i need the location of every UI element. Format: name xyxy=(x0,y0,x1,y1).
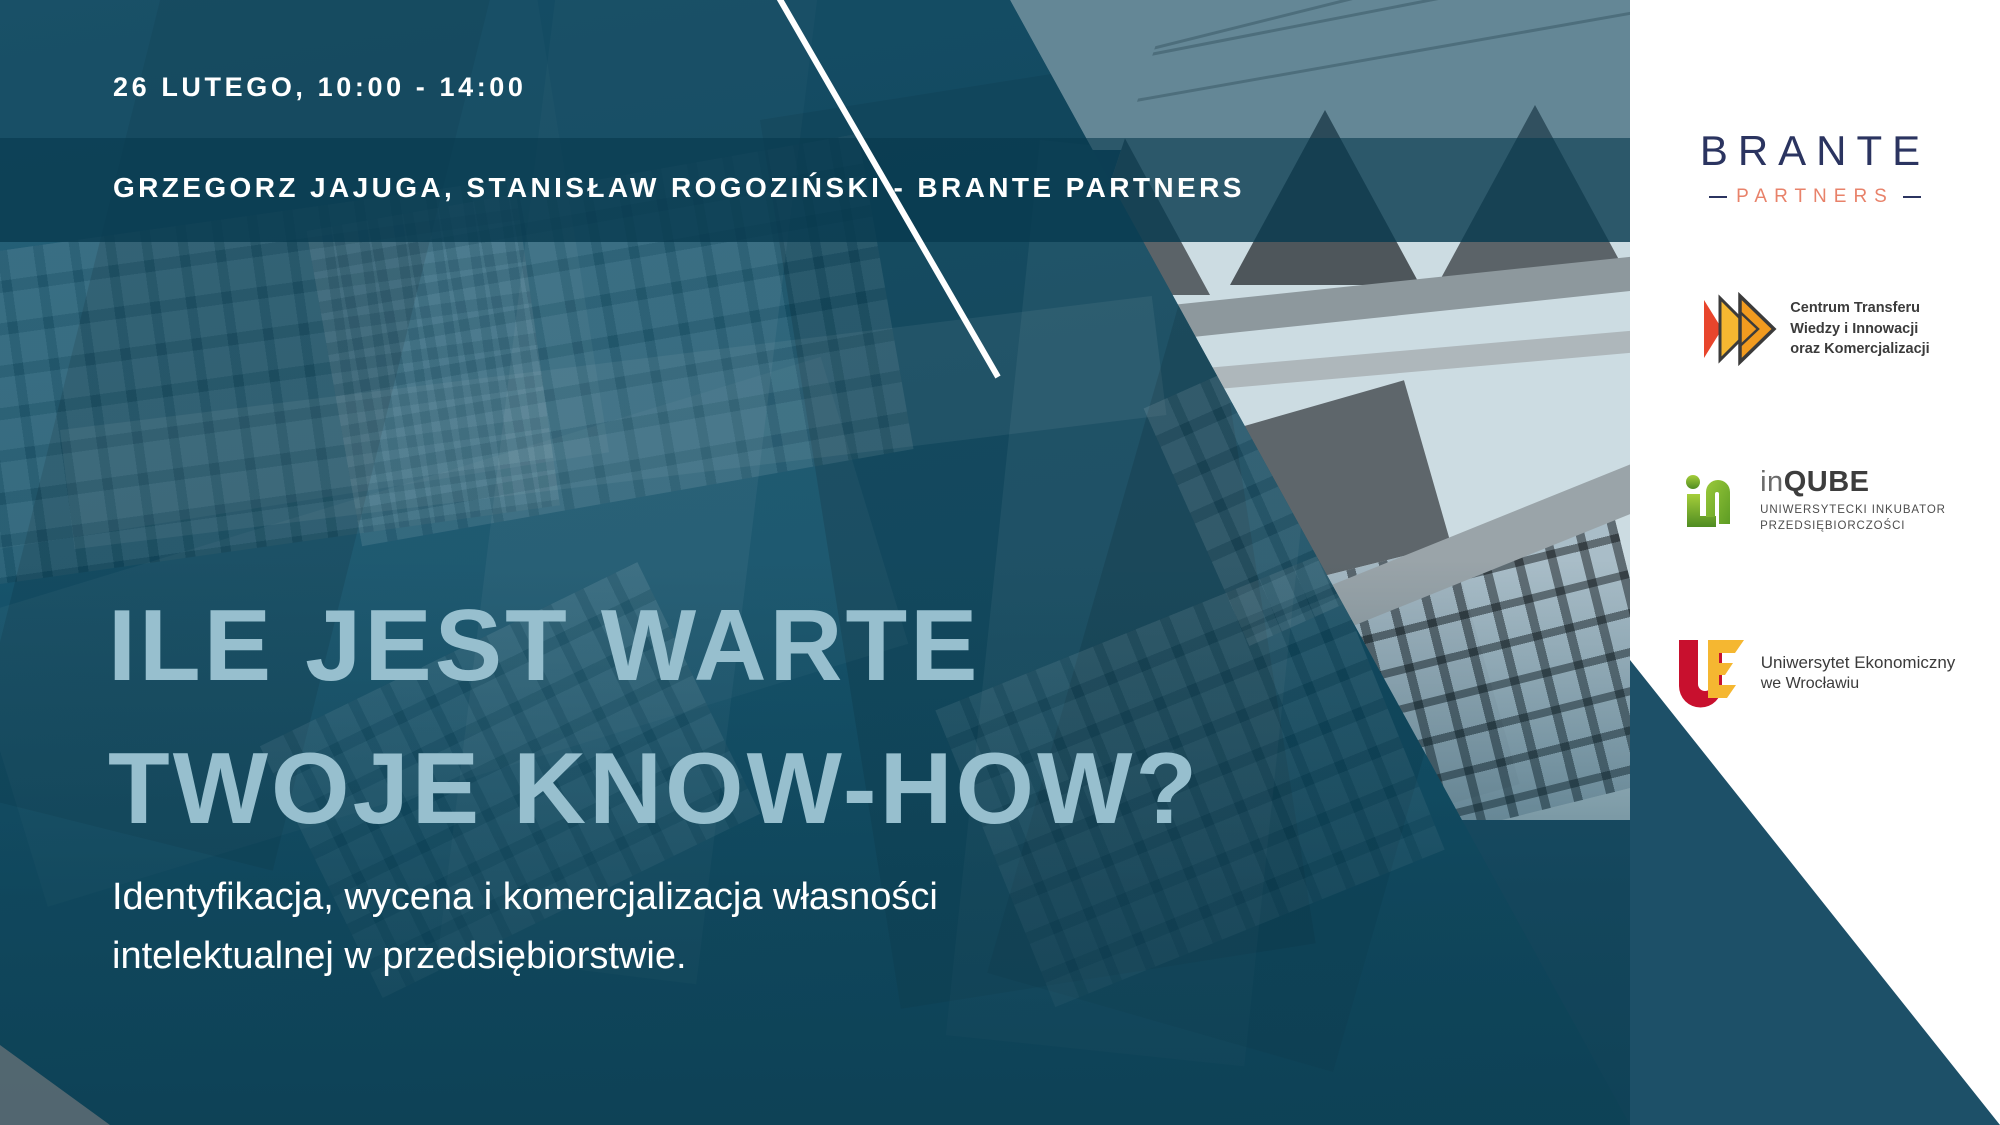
brante-tagline: PARTNERS xyxy=(1736,186,1894,208)
banner-artwork: 26 LUTEGO, 10:00 - 14:00 GRZEGORZ JAJUGA… xyxy=(0,0,1630,1125)
logo-brante-partners: BRANTE PARTNERS xyxy=(1630,130,2000,208)
inqube-wordmark: inQUBE xyxy=(1760,468,1946,497)
ue-text-block: Uniwersytet Ekonomiczny we Wrocławiu xyxy=(1761,652,1956,695)
inqube-mark-icon xyxy=(1684,472,1750,530)
event-date-time: 26 LUTEGO, 10:00 - 14:00 xyxy=(113,72,527,103)
event-speakers: GRZEGORZ JAJUGA, STANISŁAW ROGOZIŃSKI - … xyxy=(113,172,1245,204)
dash-left-icon xyxy=(1709,196,1727,198)
ctwi-line-3: oraz Komercjalizacji xyxy=(1790,339,1929,360)
subtitle: Identyfikacja, wycena i komercjalizacja … xyxy=(112,868,938,986)
headline-line-1: ILE JEST WARTE xyxy=(108,590,981,702)
headline-line-2: TWOJE KNOW-HOW? xyxy=(108,718,1200,861)
dash-right-icon xyxy=(1903,196,1921,198)
inqube-subtitle: UNIWERSYTECKI INKUBATOR PRZEDSIĘBIORCZOŚ… xyxy=(1760,503,1946,534)
brante-tagline-row: PARTNERS xyxy=(1630,186,2000,208)
date-strip xyxy=(0,0,1630,138)
inqube-word-light: in xyxy=(1760,466,1784,498)
ctwi-line-2: Wiedzy i Innowacji xyxy=(1790,319,1929,340)
event-banner: 26 LUTEGO, 10:00 - 14:00 GRZEGORZ JAJUGA… xyxy=(0,0,2000,1125)
ue-mark-icon xyxy=(1675,638,1747,708)
inqube-mark-svg xyxy=(1684,472,1750,530)
ctwi-line-1: Centrum Transferu xyxy=(1790,298,1929,319)
triple-triangle-svg xyxy=(1700,292,1778,366)
triple-triangle-icon xyxy=(1700,292,1778,366)
brante-wordmark: BRANTE xyxy=(1630,130,2000,172)
subtitle-line-1: Identyfikacja, wycena i komercjalizacja … xyxy=(112,868,938,927)
logo-inqube: inQUBE UNIWERSYTECKI INKUBATOR PRZEDSIĘB… xyxy=(1630,468,2000,534)
headline: ILE JEST WARTE TWOJE KNOW-HOW? xyxy=(108,575,1200,862)
logo-centrum-transferu-wiedzy: Centrum Transferu Wiedzy i Innowacji ora… xyxy=(1630,292,2000,366)
ue-mark-svg xyxy=(1675,638,1747,708)
ctwi-text-block: Centrum Transferu Wiedzy i Innowacji ora… xyxy=(1790,298,1929,360)
inqube-word-bold: QUBE xyxy=(1784,466,1870,498)
logo-uniwersytet-ekonomiczny: Uniwersytet Ekonomiczny we Wrocławiu xyxy=(1630,638,2000,708)
inqube-sub-line-1: UNIWERSYTECKI INKUBATOR xyxy=(1760,503,1946,519)
subtitle-line-2: intelektualnej w przedsiębiorstwie. xyxy=(112,927,938,986)
inqube-text-block: inQUBE UNIWERSYTECKI INKUBATOR PRZEDSIĘB… xyxy=(1760,468,1946,534)
ue-line-1: Uniwersytet Ekonomiczny xyxy=(1761,652,1956,674)
sponsor-logo-panel: BRANTE PARTNERS Centrum Transfe xyxy=(1630,0,2000,1125)
ue-line-2: we Wrocławiu xyxy=(1761,674,1956,695)
inqube-sub-line-2: PRZEDSIĘBIORCZOŚCI xyxy=(1760,519,1946,535)
